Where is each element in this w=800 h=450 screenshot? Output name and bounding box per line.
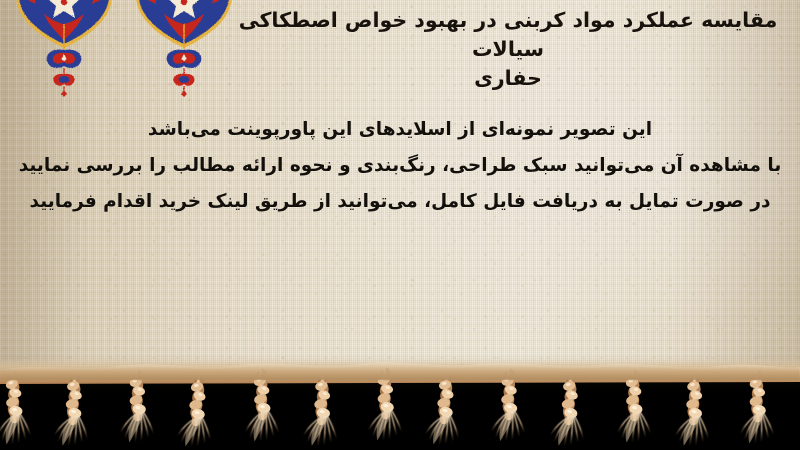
slide-body-line-3: در صورت تمایل به دریافت فایل کامل، می‌تو… [15, 184, 785, 220]
slide-body-line-1: این تصویر نمونه‌ای از اسلایدهای این پاور… [15, 112, 785, 148]
slide-title-line-2: حفاری [230, 64, 786, 93]
presentation-slide: مقایسه عملکرد مواد کربنی در بهبود خواص ا… [0, 0, 800, 450]
fringe-top-blend [0, 358, 800, 380]
slide-title-line-1: مقایسه عملکرد مواد کربنی در بهبود خواص ا… [230, 6, 786, 64]
slide-title: مقایسه عملکرد مواد کربنی در بهبود خواص ا… [230, 6, 786, 93]
slide-body-line-2: با مشاهده آن می‌توانید سبک طراحی، رنگ‌بن… [15, 148, 785, 184]
carpet-fringe-band [0, 358, 800, 450]
slide-body: این تصویر نمونه‌ای از اسلایدهای این پاور… [15, 112, 785, 220]
